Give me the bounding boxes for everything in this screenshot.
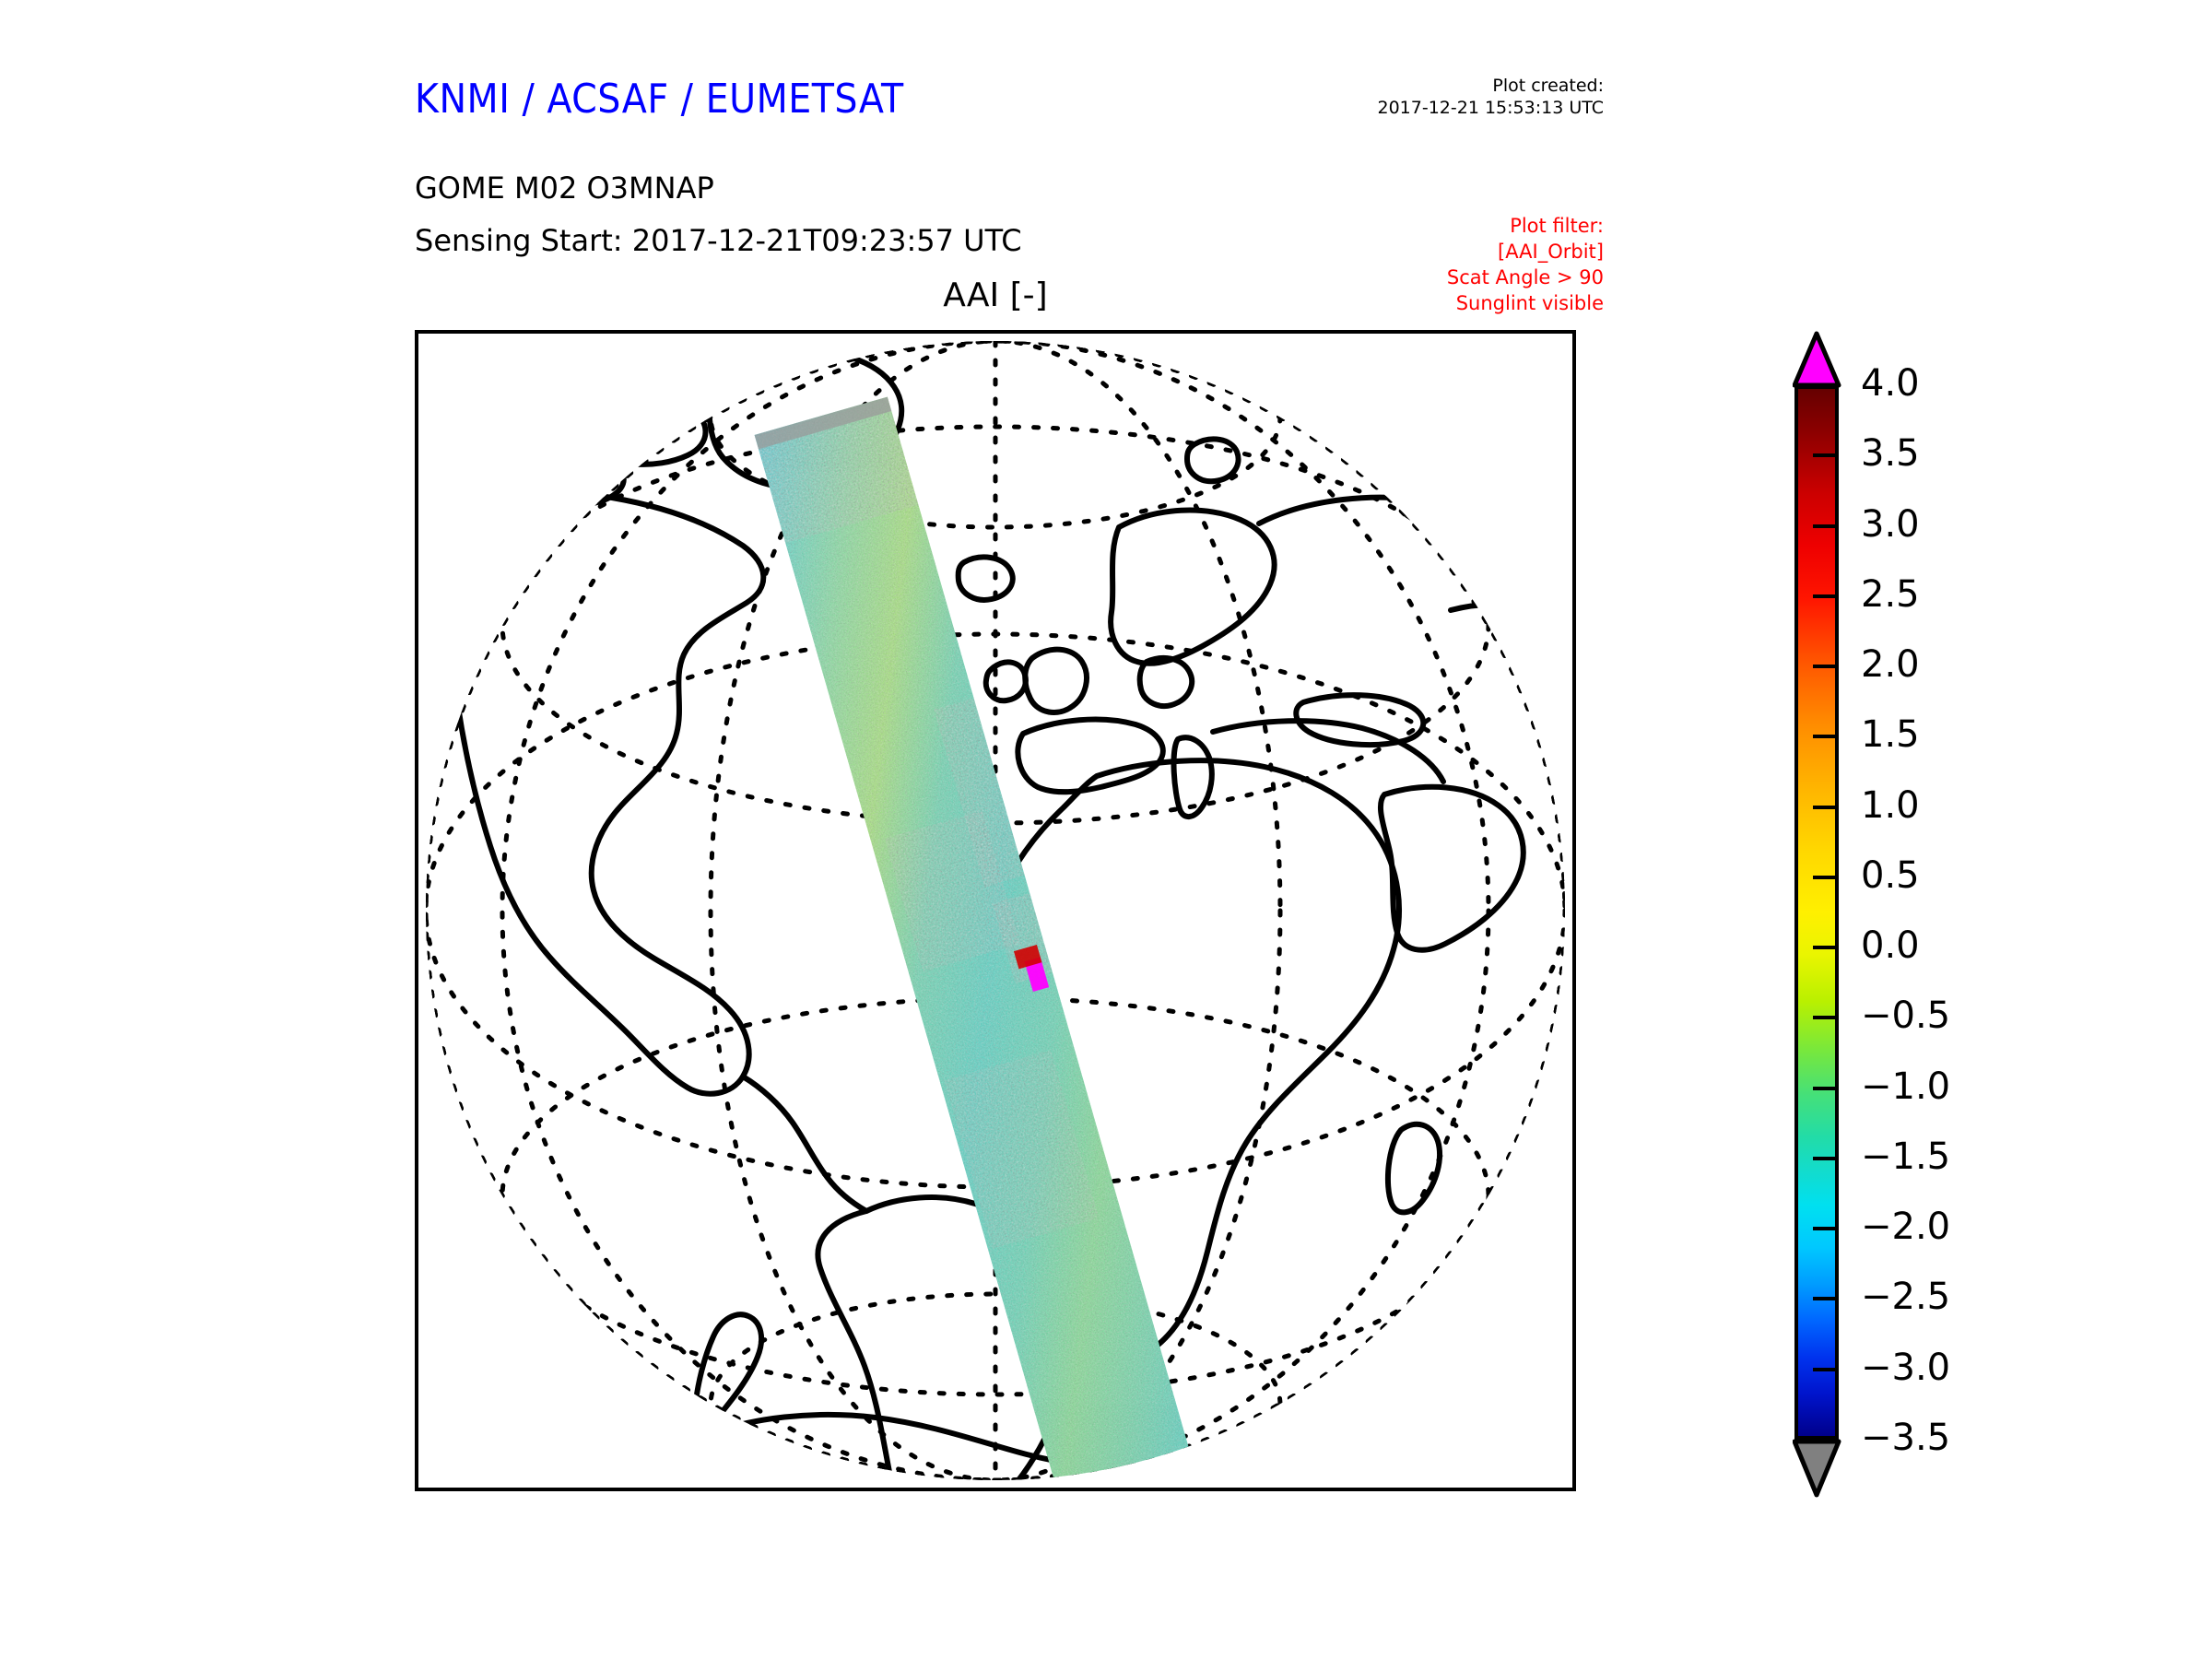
colorbar-tick-mark: [1813, 594, 1835, 598]
colorbar-tick-mark: [1813, 876, 1835, 879]
brand-title: KNMI / ACSAF / EUMETSAT: [415, 76, 904, 123]
colorbar-tick-label: −1.0: [1861, 1068, 1950, 1105]
colorbar-tick-label: −2.0: [1861, 1208, 1950, 1245]
colorbar-tick-mark: [1813, 735, 1835, 738]
colorbar-tick-mark: [1813, 1297, 1835, 1300]
colorbar-tick-label: 3.0: [1861, 506, 1920, 543]
colorbar-tick-mark: [1813, 665, 1835, 668]
map-title: AAI [-]: [415, 276, 1576, 314]
colorbar-tick-mark: [1813, 1087, 1835, 1090]
map-plot-frame[interactable]: [415, 330, 1576, 1491]
colorbar-tick-label: −0.5: [1861, 997, 1950, 1034]
product-title: GOME M02 O3MNAP: [415, 171, 714, 206]
colorbar-tick-mark: [1813, 1016, 1835, 1019]
colorbar-tick-mark: [1813, 946, 1835, 949]
colorbar-tick-label: −2.5: [1861, 1278, 1950, 1315]
plot-filter-orbit: [AAI_Orbit]: [1235, 240, 1604, 265]
colorbar-tick-label: 1.5: [1861, 716, 1920, 753]
colorbar-tick-label: 0.0: [1861, 927, 1920, 964]
colorbar-ticks: 4.03.53.02.52.01.51.00.50.0−0.5−1.0−1.5−…: [1793, 330, 2161, 1500]
plot-created-value: 2017-12-21 15:53:13 UTC: [1235, 98, 1604, 120]
sensing-start-text: Sensing Start: 2017-12-21T09:23:57 UTC: [415, 223, 1022, 258]
colorbar-tick-mark: [1813, 383, 1835, 387]
colorbar-tick-label: −1.5: [1861, 1138, 1950, 1175]
colorbar-tick-mark: [1813, 524, 1835, 528]
colorbar-tick-mark: [1813, 453, 1835, 457]
colorbar-tick-mark: [1813, 806, 1835, 809]
plot-created-block: Plot created: 2017-12-21 15:53:13 UTC: [1235, 76, 1604, 120]
colorbar-tick-label: 2.5: [1861, 576, 1920, 613]
plot-filter-label: Plot filter:: [1235, 214, 1604, 240]
colorbar-tick-label: 3.5: [1861, 435, 1920, 472]
colorbar-tick-mark: [1813, 1368, 1835, 1371]
colorbar-tick-label: −3.5: [1861, 1419, 1950, 1456]
colorbar-tick-mark: [1813, 1157, 1835, 1160]
colorbar-tick-label: 1.0: [1861, 787, 1920, 824]
colorbar[interactable]: 4.03.53.02.52.01.51.00.50.0−0.5−1.0−1.5−…: [1793, 330, 2161, 1500]
map-canvas: [418, 334, 1572, 1488]
colorbar-tick-label: 2.0: [1861, 646, 1920, 683]
colorbar-tick-label: 0.5: [1861, 857, 1920, 894]
colorbar-tick-mark: [1813, 1438, 1835, 1441]
colorbar-tick-label: −3.0: [1861, 1349, 1950, 1386]
colorbar-tick-label: 4.0: [1861, 365, 1920, 402]
plot-created-label: Plot created:: [1235, 76, 1604, 98]
colorbar-tick-mark: [1813, 1227, 1835, 1230]
